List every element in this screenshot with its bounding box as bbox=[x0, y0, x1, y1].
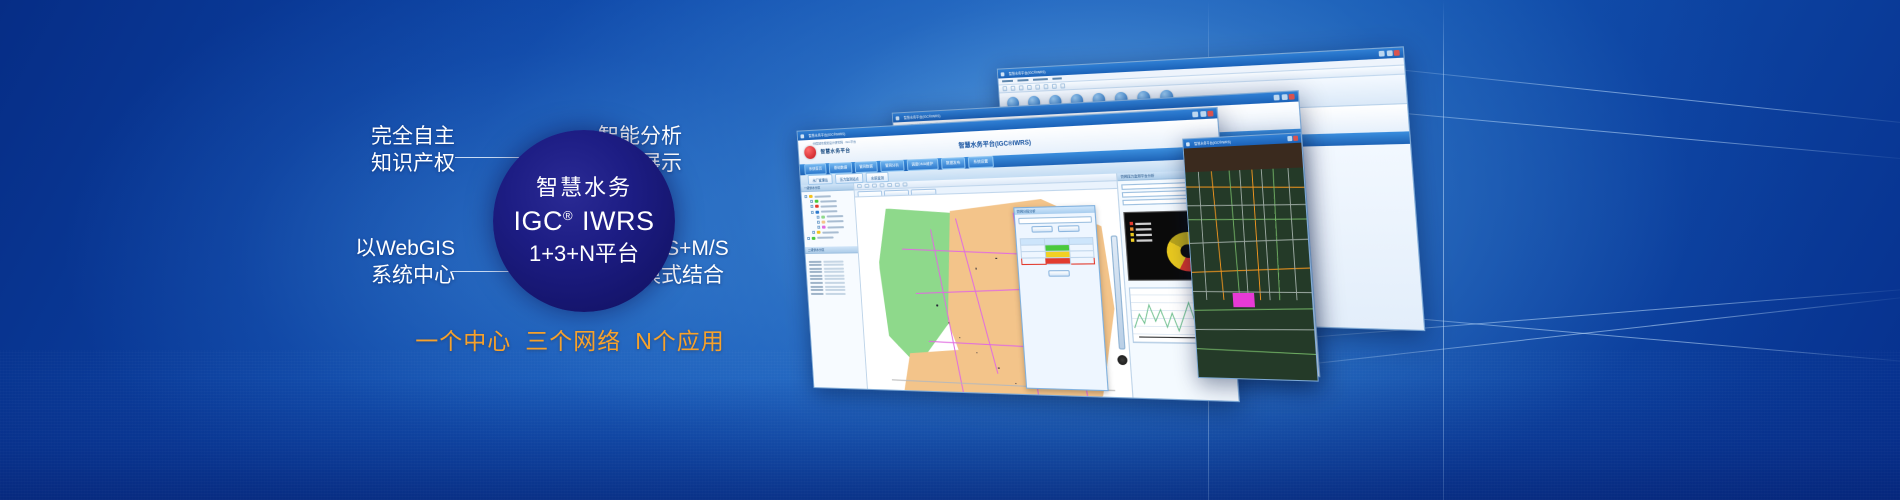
toolbar-icon[interactable] bbox=[1052, 84, 1057, 89]
nav-item-analysis[interactable]: 管网分析 bbox=[880, 160, 904, 171]
toolbar-icon[interactable] bbox=[1035, 85, 1040, 90]
minimize-icon[interactable] bbox=[1274, 95, 1280, 101]
tree-node[interactable] bbox=[812, 230, 854, 234]
toolbar-icon[interactable] bbox=[1060, 83, 1065, 88]
property-row bbox=[809, 271, 856, 273]
map-tab[interactable] bbox=[911, 188, 937, 195]
maximize-icon[interactable] bbox=[1281, 94, 1287, 100]
tree-node[interactable] bbox=[810, 199, 851, 203]
nav-item-basedata[interactable]: 基础数据 bbox=[829, 163, 852, 174]
toolbar-icon[interactable] bbox=[1011, 86, 1016, 91]
product-screenshot-stack: 智慧水务平台(IGC®IWRS) 数据查询 bbox=[795, 30, 1445, 470]
property-panel-title: 二级供水分区 bbox=[805, 246, 858, 254]
hub-product-name: 智慧水务 bbox=[536, 177, 632, 199]
toolbar-icon[interactable] bbox=[1027, 85, 1032, 90]
map-tab[interactable] bbox=[884, 189, 909, 195]
water-drop-logo-icon bbox=[804, 145, 817, 159]
property-row bbox=[809, 260, 856, 263]
result-table[interactable] bbox=[1020, 237, 1096, 265]
toolbar-icon[interactable] bbox=[1002, 86, 1007, 91]
chart-legend bbox=[1130, 222, 1153, 242]
tree-node[interactable] bbox=[817, 220, 853, 224]
maximize-icon[interactable] bbox=[1200, 111, 1206, 117]
nav-item-settings[interactable]: 系统设置 bbox=[968, 156, 993, 168]
table-row[interactable] bbox=[1022, 257, 1095, 264]
toolbar-icon[interactable] bbox=[1019, 85, 1024, 90]
legend-item bbox=[1130, 222, 1152, 226]
app-window-front[interactable]: 智慧水务平台(IGC®IWRS) 中国城市规划设计研究院 · IGC平台 智慧水… bbox=[797, 107, 1240, 402]
feature-label-bottom-left-line1: 以WebGIS bbox=[300, 235, 455, 262]
map-view[interactable]: 管网分段分析 bbox=[854, 174, 1137, 403]
platform-concept-diagram: 完全自主 知识产权 以WebGIS 系统中心 智能分析 数据展示 C/S+B/S… bbox=[0, 0, 820, 500]
feature-label-bottom-left: 以WebGIS 系统中心 bbox=[300, 235, 455, 290]
app-icon bbox=[800, 134, 804, 138]
window-controls[interactable] bbox=[1274, 94, 1295, 101]
property-row bbox=[810, 275, 857, 277]
tree-node[interactable] bbox=[807, 236, 854, 240]
property-grid bbox=[806, 257, 861, 298]
layer-tree[interactable] bbox=[801, 190, 857, 242]
legend-item bbox=[1130, 227, 1152, 231]
sub-nav-item-quality[interactable]: 水质监测 bbox=[866, 172, 889, 183]
select-tool-icon[interactable] bbox=[880, 183, 885, 187]
property-row bbox=[809, 267, 856, 269]
hub-platform-model: 1+3+N平台 bbox=[529, 243, 639, 265]
nav-item-publish[interactable]: 数据发布 bbox=[941, 157, 966, 169]
tree-node[interactable] bbox=[811, 209, 852, 213]
connector-top-left bbox=[455, 157, 521, 158]
map-tab[interactable] bbox=[857, 190, 882, 196]
tagline-part-2: 三个网络 bbox=[525, 328, 621, 354]
reset-button[interactable] bbox=[1058, 225, 1080, 232]
property-row bbox=[811, 289, 858, 291]
legend-item bbox=[1131, 239, 1153, 243]
maximize-icon[interactable] bbox=[1386, 50, 1392, 56]
legend-item bbox=[1131, 233, 1153, 237]
window-controls[interactable] bbox=[1287, 136, 1298, 142]
property-row bbox=[810, 278, 857, 280]
pipe-analysis-dialog[interactable]: 管网分段分析 bbox=[1013, 205, 1109, 391]
tagline-part-1: 一个中心 bbox=[415, 328, 511, 354]
close-icon[interactable] bbox=[1394, 50, 1400, 56]
selected-area-highlight bbox=[1232, 293, 1254, 308]
hub-product-code-main: IGC bbox=[513, 208, 563, 235]
tree-node[interactable] bbox=[810, 204, 851, 208]
feature-label-top-left-line2: 知识产权 bbox=[305, 150, 455, 177]
hub-product-code: IGC®IWRS bbox=[513, 208, 654, 235]
dialog-body[interactable] bbox=[1015, 213, 1100, 284]
satellite-map-canvas[interactable] bbox=[1184, 143, 1319, 382]
app-window-darkmap[interactable]: 智慧水务平台(IGC®IWRS) bbox=[1182, 132, 1319, 381]
hub-product-code-suffix: IWRS bbox=[582, 208, 655, 235]
window-controls[interactable] bbox=[1192, 111, 1213, 118]
app-icon bbox=[896, 116, 900, 120]
platform-title: 智慧水务平台(IGC®IWRS) bbox=[958, 136, 1031, 149]
measure-tool-icon[interactable] bbox=[887, 183, 892, 187]
zoom-out-icon[interactable] bbox=[872, 183, 877, 187]
feature-label-top-left: 完全自主 知识产权 bbox=[305, 123, 455, 178]
tree-node[interactable] bbox=[817, 225, 853, 229]
pan-tool-icon[interactable] bbox=[857, 184, 862, 188]
tagline-part-3: N个应用 bbox=[635, 328, 725, 354]
zoom-in-icon[interactable] bbox=[864, 184, 869, 188]
banner-tagline: 一个中心三个网络N个应用 bbox=[340, 322, 800, 356]
query-button[interactable] bbox=[1032, 226, 1054, 233]
nav-item-pipedata[interactable]: 管网数据 bbox=[854, 161, 878, 172]
feature-label-top-left-line1: 完全自主 bbox=[305, 123, 455, 150]
app-icon bbox=[1186, 142, 1190, 146]
app-workspace: 一级供水分区 二级供水分区 bbox=[801, 170, 1240, 403]
map-canvas[interactable]: 管网分段分析 bbox=[855, 189, 1136, 402]
toolbar-icon[interactable] bbox=[1043, 84, 1048, 89]
close-icon[interactable] bbox=[1207, 111, 1213, 117]
minimize-icon[interactable] bbox=[1379, 51, 1385, 57]
close-icon[interactable] bbox=[1289, 94, 1295, 100]
close-icon[interactable] bbox=[1293, 136, 1298, 141]
map-pan-icon[interactable] bbox=[1117, 355, 1128, 365]
tree-node[interactable] bbox=[804, 194, 851, 199]
hero-banner: 完全自主 知识产权 以WebGIS 系统中心 智能分析 数据展示 C/S+B/S… bbox=[0, 0, 1900, 500]
window-controls[interactable] bbox=[1379, 50, 1400, 57]
tree-node[interactable] bbox=[817, 215, 853, 219]
app-icon bbox=[1001, 72, 1005, 76]
platform-hub-circle: 智慧水务 IGC®IWRS 1+3+N平台 bbox=[493, 130, 675, 312]
nav-item-dma[interactable]: 调度DMA维护 bbox=[906, 159, 938, 171]
brand-subtitle: 中国城市规划设计研究院 · IGC平台 bbox=[813, 140, 856, 146]
nav-item-home[interactable]: 系统首页 bbox=[804, 164, 827, 175]
property-row bbox=[810, 285, 857, 287]
feature-label-bottom-left-line2: 系统中心 bbox=[300, 262, 455, 289]
identify-tool-icon[interactable] bbox=[895, 183, 900, 187]
brand-label: 智慧水务平台 bbox=[820, 146, 850, 154]
property-row bbox=[811, 293, 858, 295]
minimize-icon[interactable] bbox=[1192, 111, 1198, 117]
property-row bbox=[810, 282, 857, 284]
property-row bbox=[809, 264, 856, 266]
registered-mark-icon: ® bbox=[563, 209, 573, 222]
apply-button[interactable] bbox=[1048, 270, 1070, 277]
minimize-icon[interactable] bbox=[1287, 136, 1292, 141]
print-icon[interactable] bbox=[902, 182, 907, 186]
